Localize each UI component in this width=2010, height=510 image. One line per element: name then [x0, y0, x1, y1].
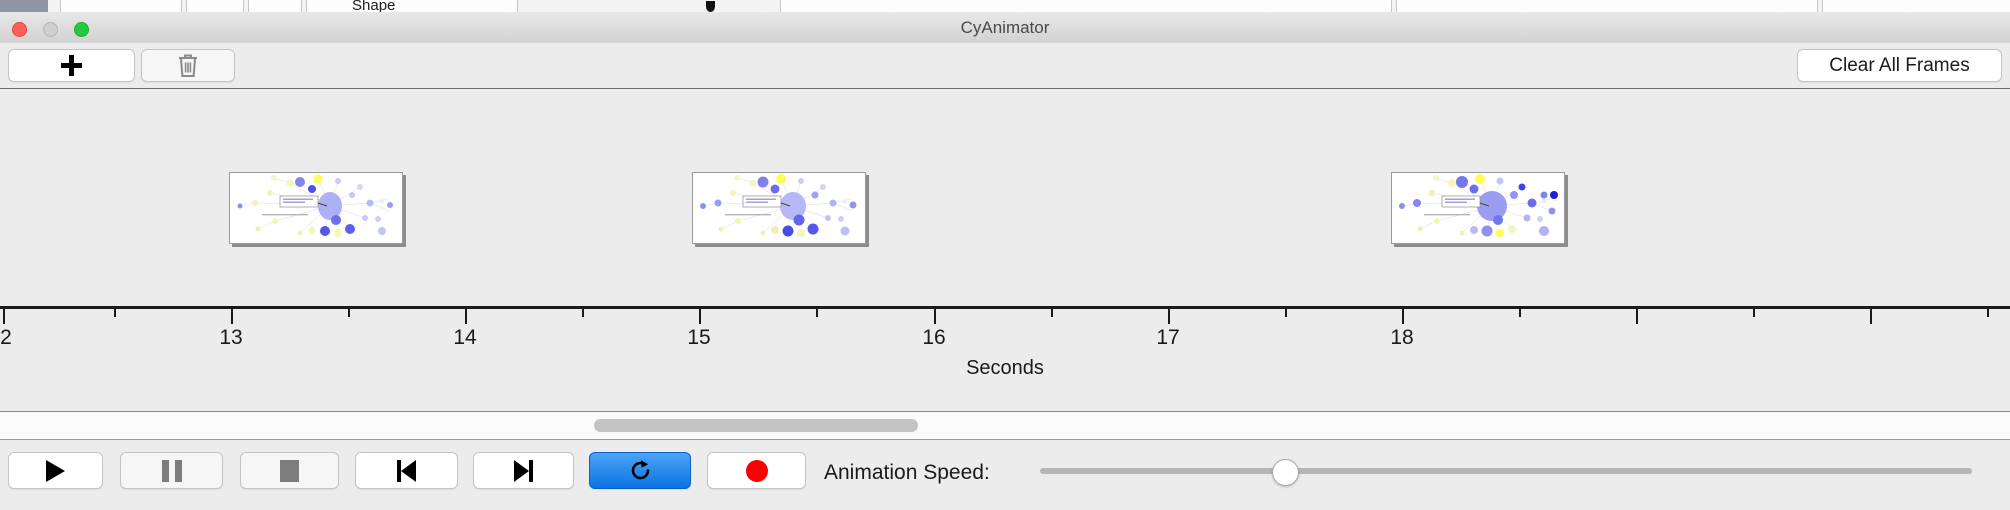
- timeline-frame-thumbnail[interactable]: [692, 172, 866, 244]
- axis-tick-major: [1168, 309, 1170, 324]
- timeline-panel[interactable]: 2 13 14 15 16 17 18 Seconds: [0, 89, 2010, 412]
- background-window-chunk: [306, 0, 518, 12]
- skip-forward-icon: [514, 460, 533, 482]
- skip-to-end-button[interactable]: [473, 452, 574, 489]
- cyanimator-window: Shape CyAnimator Clear All Frames: [0, 0, 2010, 510]
- skip-back-icon: [397, 460, 416, 482]
- axis-tick-major: [699, 309, 701, 324]
- record-icon: [746, 460, 768, 482]
- timeline-frame-thumbnail[interactable]: [229, 172, 403, 244]
- axis-tick-minor: [582, 309, 584, 317]
- trash-icon: [177, 53, 199, 79]
- network-graph-thumbnail: [1392, 173, 1562, 241]
- play-button[interactable]: [8, 452, 103, 489]
- axis-tick-minor: [114, 309, 116, 317]
- record-button[interactable]: [707, 452, 806, 489]
- axis-tick-label: 17: [1156, 326, 1179, 350]
- plus-icon: [61, 55, 82, 76]
- axis-tick-major: [1636, 309, 1638, 324]
- toolbar: Clear All Frames: [0, 43, 2010, 89]
- axis-tick-label: 18: [1390, 326, 1413, 350]
- pause-button[interactable]: [120, 452, 223, 489]
- delete-frame-button[interactable]: [141, 49, 235, 82]
- timeline-frame-thumbnail[interactable]: [1391, 172, 1565, 244]
- background-window-chunk: [186, 0, 244, 12]
- animation-speed-slider-thumb[interactable]: [1272, 459, 1299, 486]
- pause-icon: [162, 460, 182, 482]
- animation-speed-slider[interactable]: [1040, 468, 1972, 474]
- axis-tick-minor: [816, 309, 818, 317]
- background-window-chunk: [1822, 0, 2010, 12]
- add-frame-button[interactable]: [8, 49, 135, 82]
- axis-tick-minor: [348, 309, 350, 317]
- background-window-titlebar: [0, 0, 48, 12]
- loop-icon: [628, 458, 653, 483]
- timeline-scrollbar[interactable]: [0, 412, 2010, 440]
- title-bar: CyAnimator: [0, 12, 2010, 44]
- axis-tick-label: 2: [0, 326, 12, 350]
- clear-all-frames-label: Clear All Frames: [1829, 55, 1969, 77]
- background-window-chunk: [780, 0, 1392, 12]
- playback-bar: Animation Speed:: [0, 440, 2010, 510]
- axis-tick-major: [465, 309, 467, 324]
- window-title: CyAnimator: [0, 12, 2010, 43]
- axis-tick-minor: [1987, 309, 1989, 317]
- axis-tick-minor: [1285, 309, 1287, 317]
- background-window-chunk: [60, 0, 182, 12]
- background-window-marker: [706, 1, 715, 12]
- background-window-chunk: [248, 0, 302, 12]
- axis-tick-major: [3, 309, 5, 324]
- axis-tick-label: 15: [687, 326, 710, 350]
- axis-tick-label: 14: [453, 326, 476, 350]
- axis-caption: Seconds: [0, 357, 2010, 380]
- axis-tick-major: [934, 309, 936, 324]
- clear-all-frames-button[interactable]: Clear All Frames: [1797, 49, 2002, 82]
- play-icon: [46, 460, 65, 482]
- axis-tick-major: [1870, 309, 1872, 324]
- stop-button[interactable]: [240, 452, 339, 489]
- axis-tick-major: [1402, 309, 1404, 324]
- axis-tick-label: 13: [219, 326, 242, 350]
- network-graph-thumbnail: [230, 173, 400, 241]
- axis-tick-major: [231, 309, 233, 324]
- axis-tick-label: 16: [922, 326, 945, 350]
- stop-icon: [280, 460, 299, 482]
- animation-speed-label: Animation Speed:: [824, 461, 990, 485]
- skip-to-start-button[interactable]: [355, 452, 458, 489]
- network-graph-thumbnail: [693, 173, 863, 241]
- loop-button[interactable]: [589, 452, 691, 489]
- axis-tick-minor: [1051, 309, 1053, 317]
- axis-tick-minor: [1753, 309, 1755, 317]
- timeline-axis: [0, 306, 2010, 309]
- axis-tick-minor: [1519, 309, 1521, 317]
- background-window-chunk: [1396, 0, 1818, 12]
- scrollbar-thumb[interactable]: [594, 419, 918, 432]
